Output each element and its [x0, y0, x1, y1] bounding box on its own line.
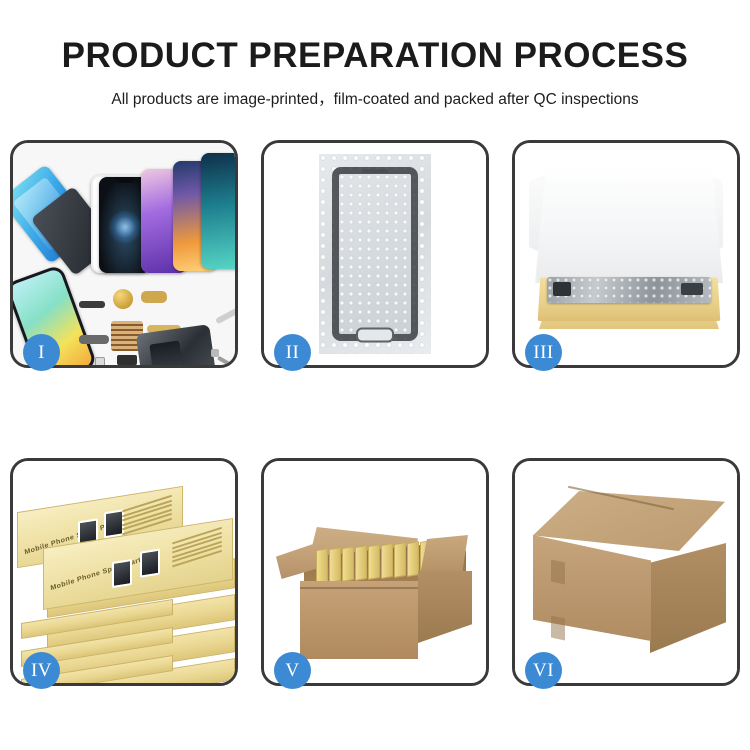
step-image-2: [264, 143, 486, 365]
box-phone-image-graphic: [104, 509, 124, 538]
process-steps-grid: I II III: [10, 140, 740, 685]
phone-screens-collection-graphic: [13, 143, 235, 365]
carton-edge-line-graphic: [300, 587, 418, 589]
packed-box-graphic: [381, 543, 393, 579]
step-badge-5: V: [274, 652, 311, 689]
step-card-5: V: [261, 458, 489, 686]
teal-display-screen-graphic: [201, 153, 235, 269]
box-stack-graphic: Mobile Phone Spare Parts Mobile Phone Sp…: [13, 461, 235, 683]
packed-box-graphic: [368, 544, 380, 580]
page-subtitle: All products are image-printed，film-coat…: [0, 73, 750, 109]
step-card-3: III: [512, 140, 740, 368]
step-badge-3: III: [525, 334, 562, 371]
step-image-5: [264, 461, 486, 683]
wrapped-screen-graphic: [332, 167, 418, 341]
box-spec-lines-graphic: [172, 531, 222, 566]
step-badge-1: I: [23, 334, 60, 371]
packed-box-graphic: [407, 541, 419, 577]
step-image-6: [515, 461, 737, 683]
carton-tape-mark-graphic: [551, 616, 565, 641]
screwdriver-tool-graphic: [217, 356, 231, 365]
page-title: PRODUCT PREPARATION PROCESS: [0, 0, 750, 73]
sealed-carton-side-graphic: [650, 543, 726, 653]
connector-part-graphic: [141, 291, 167, 303]
packed-box-graphic: [355, 545, 367, 581]
step-badge-4: IV: [23, 652, 60, 689]
carton-tape-mark-graphic: [551, 560, 565, 585]
packed-box-graphic: [329, 547, 341, 583]
packed-box-graphic: [394, 542, 406, 578]
speaker-module-part-graphic: [113, 289, 133, 309]
step-image-3: [515, 143, 737, 365]
box-lid-graphic: [535, 165, 723, 283]
header: PRODUCT PREPARATION PROCESS All products…: [0, 0, 750, 109]
earpiece-part-graphic: [79, 301, 105, 308]
flex-cable-part-graphic: [79, 335, 109, 344]
wrapped-part-in-box-graphic: [547, 277, 711, 303]
product-preparation-infographic: PRODUCT PREPARATION PROCESS All products…: [0, 0, 750, 750]
step-card-2: II: [261, 140, 489, 368]
box-phone-image-graphic: [140, 549, 160, 578]
bubble-film-graphic: [319, 154, 431, 354]
box-phone-image-graphic: [112, 559, 132, 588]
small-component-part-graphic: [95, 357, 105, 365]
carton-front-panel-graphic: [300, 581, 418, 659]
step-card-6: VI: [512, 458, 740, 686]
step-card-4: Mobile Phone Spare Parts Mobile Phone Sp…: [10, 458, 238, 686]
step-badge-2: II: [274, 334, 311, 371]
carton-side-panel-graphic: [418, 571, 472, 643]
step-image-1: [13, 143, 235, 365]
packed-box-graphic: [316, 548, 328, 584]
packed-box-graphic: [342, 546, 354, 582]
step-card-1: I: [10, 140, 238, 368]
camera-module-part-graphic: [117, 355, 137, 365]
step-image-4: Mobile Phone Spare Parts Mobile Phone Sp…: [13, 461, 235, 683]
step-badge-6: VI: [525, 652, 562, 689]
tweezers-tool-graphic: [215, 308, 235, 325]
